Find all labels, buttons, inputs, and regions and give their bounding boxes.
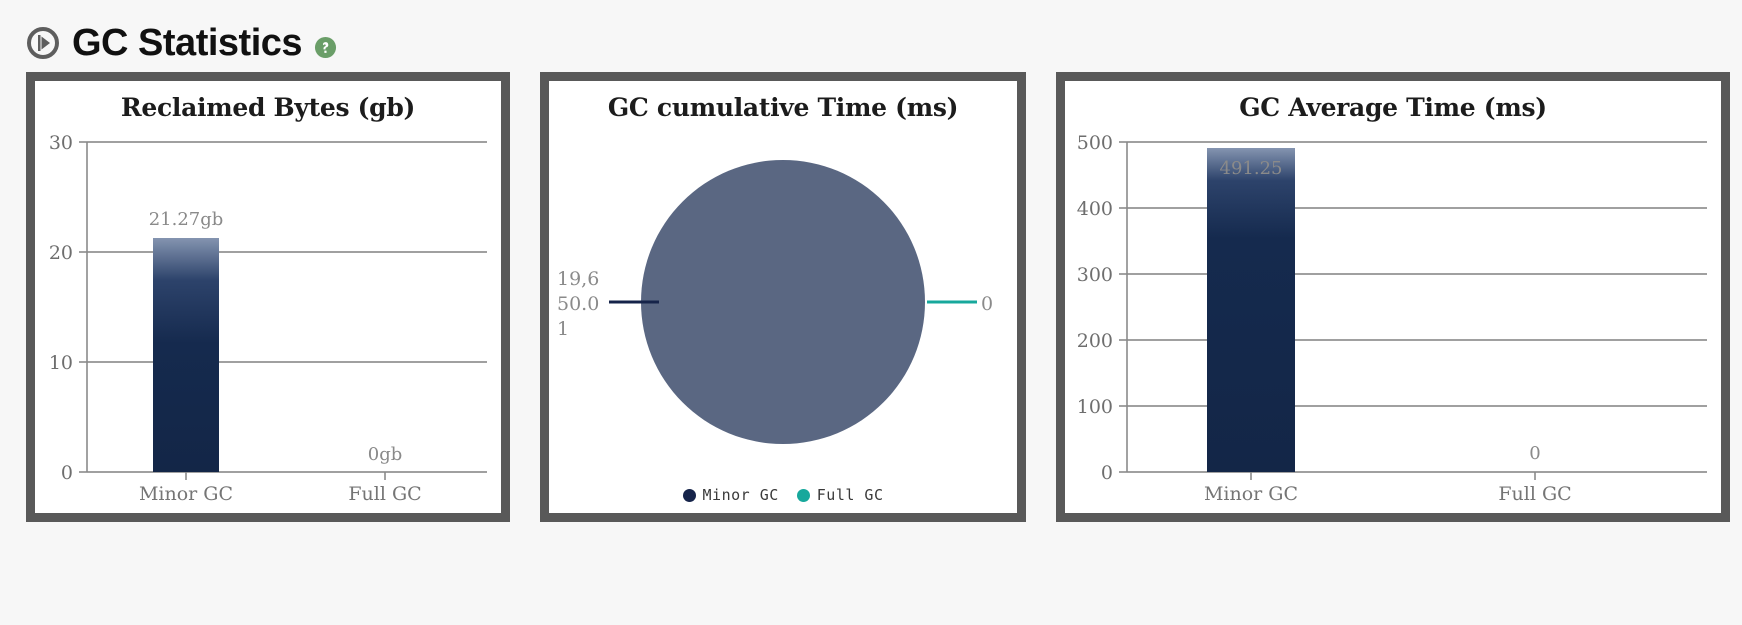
x-category-label-minor-gc: Minor GC (1204, 483, 1298, 505)
x-category-label-full-gc: Full GC (1498, 483, 1571, 505)
chart-panel-gc-cumulative-time: GC cumulative Time (ms) 19,6 50.0 1 0 (540, 72, 1026, 522)
bar-value-label-minor-gc: 491.25 (1220, 158, 1283, 179)
x-category-label-full-gc: Full GC (348, 483, 421, 505)
chart-title-gc-average-time: GC Average Time (ms) (1065, 81, 1721, 122)
legend-dot-full-gc (797, 489, 810, 502)
pie-value-label-minor-gc-line1: 19,6 (557, 268, 599, 290)
y-tick-label: 300 (1077, 264, 1113, 286)
legend-label-minor-gc: Minor GC (703, 486, 779, 504)
y-tick-label: 100 (1077, 396, 1113, 418)
y-tick-label: 500 (1077, 132, 1113, 154)
bar-chart-reclaimed-bytes: 30 20 10 0 21.27gb 0gb Minor GC Full GC (35, 122, 501, 517)
y-tick-label: 0 (1101, 462, 1113, 484)
bar-value-label-full-gc: 0gb (368, 444, 403, 465)
bar-chart-gc-average-time: 500 400 300 200 100 0 491.25 0 Minor GC … (1065, 122, 1721, 517)
charts-row: Reclaimed Bytes (gb) (0, 72, 1742, 522)
chart-panel-reclaimed-bytes: Reclaimed Bytes (gb) (26, 72, 510, 522)
chart-title-gc-cumulative-time: GC cumulative Time (ms) (549, 81, 1017, 122)
y-tick-label: 200 (1077, 330, 1113, 352)
page-title: GC Statistics (72, 24, 302, 62)
x-category-label-minor-gc: Minor GC (139, 483, 233, 505)
y-tick-label: 20 (49, 242, 73, 264)
help-circle-icon[interactable] (314, 36, 337, 59)
y-tick-label: 30 (49, 132, 73, 154)
chart-title-reclaimed-bytes: Reclaimed Bytes (gb) (35, 81, 501, 122)
legend-item-minor-gc[interactable]: Minor GC (683, 486, 779, 504)
legend-item-full-gc[interactable]: Full GC (797, 486, 884, 504)
y-tick-label: 400 (1077, 198, 1113, 220)
page-header: GC Statistics (0, 0, 1742, 72)
pie-legend: Minor GC Full GC (549, 486, 1017, 504)
bar-value-label-full-gc: 0 (1529, 443, 1540, 464)
bar-minor-gc[interactable] (153, 238, 219, 472)
chart-panel-gc-average-time: GC Average Time (ms) (1056, 72, 1730, 522)
pie-value-label-minor-gc-line2: 50.0 (557, 293, 599, 315)
y-tick-label: 10 (49, 352, 73, 374)
pie-value-label-full-gc: 0 (981, 293, 993, 315)
pie-chart-gc-cumulative-time: 19,6 50.0 1 0 (549, 122, 1017, 482)
compass-icon (26, 26, 60, 60)
pie-value-label-minor-gc-line3: 1 (557, 318, 569, 340)
legend-label-full-gc: Full GC (817, 486, 884, 504)
y-tick-label: 0 (61, 462, 73, 484)
pie-slice-minor-gc[interactable] (641, 160, 925, 444)
bar-minor-gc[interactable] (1207, 148, 1295, 472)
bar-value-label-minor-gc: 21.27gb (149, 209, 224, 230)
legend-dot-minor-gc (683, 489, 696, 502)
